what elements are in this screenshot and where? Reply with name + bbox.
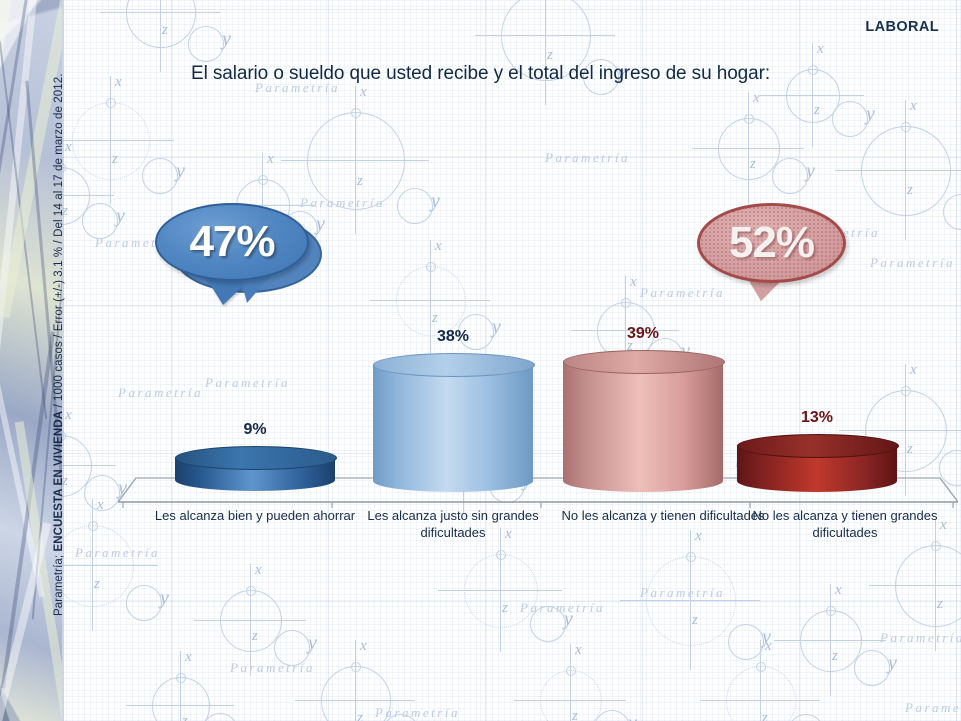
bar-value-label: 9%	[243, 421, 266, 439]
bar-top-ellipse	[737, 434, 899, 458]
bubble-body: 47%	[155, 203, 309, 281]
bar-value-label: 13%	[801, 409, 833, 427]
bar-body	[563, 361, 723, 492]
x-axis-label-3: No les alcanza y tienen grandes dificult…	[730, 507, 960, 541]
callout-value: 52%	[729, 218, 814, 268]
bar-top-ellipse	[373, 353, 535, 377]
bar-les-alcanza-bien[interactable]: 9%	[175, 446, 335, 491]
bar-body	[373, 364, 533, 492]
chart-area: 9% 38% 39% 13% Les alcanza bien y pueden…	[0, 0, 961, 721]
slide-canvas: ParametríaParametríaParametríaParametría…	[0, 0, 961, 721]
bar-no-les-alcanza-grandes[interactable]: 13%	[737, 434, 897, 492]
callout-bubble-negative[interactable]: 52%	[697, 203, 840, 303]
bar-top-ellipse	[175, 446, 337, 470]
bar-value-label: 39%	[627, 325, 659, 343]
bar-value-label: 38%	[437, 328, 469, 346]
callout-bubble-positive[interactable]: 47%	[155, 203, 305, 303]
bar-les-alcanza-justo[interactable]: 38%	[373, 353, 533, 492]
x-axis-label-1: Les alcanza justo sin grandes dificultad…	[338, 507, 568, 541]
callout-value: 47%	[189, 217, 274, 267]
bar-top-ellipse	[563, 350, 725, 374]
bar-no-les-alcanza[interactable]: 39%	[563, 350, 723, 492]
x-axis-label-0: Les alcanza bien y pueden ahorrar	[140, 507, 370, 524]
bubble-body: 52%	[697, 203, 846, 283]
